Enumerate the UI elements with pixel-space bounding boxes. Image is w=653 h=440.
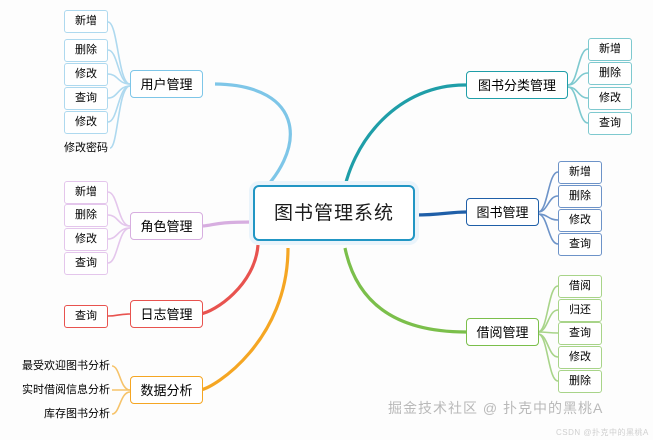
leaf-label: 查询 (75, 93, 97, 104)
leaf-label: 新增 (599, 44, 621, 55)
leaf-node[interactable]: 删除 (558, 370, 602, 393)
leaf-node[interactable]: 删除 (588, 62, 632, 85)
watermark-main: 掘金技术社区 @ 扑克中的黑桃A (388, 398, 603, 418)
leaf-label: 借阅 (569, 281, 591, 292)
leaf-node[interactable]: 修改密码 (42, 140, 110, 156)
leaf-label: 查询 (75, 311, 97, 322)
leaf-label: 库存图书分析 (44, 409, 110, 420)
leaf-node[interactable]: 新增 (64, 10, 108, 33)
watermark-corner: CSDN @扑克中的黑桃A (556, 427, 649, 438)
leaf-node[interactable]: 删除 (558, 185, 602, 208)
branch-node-book-category-management[interactable]: 图书分类管理 (466, 71, 568, 99)
mindmap-canvas: 图书管理系统 用户管理 新增 删除 修改 查询 修改 修改密码 角色管理 新增 … (0, 0, 653, 440)
leaf-label: 修改 (75, 69, 97, 80)
leaf-label: 修改 (569, 352, 591, 363)
leaf-label: 修改密码 (64, 143, 108, 154)
branch-node-book-management[interactable]: 图书管理 (466, 198, 539, 226)
leaf-node[interactable]: 归还 (558, 299, 602, 322)
leaf-label: 查询 (75, 258, 97, 269)
branch-node-data-analysis[interactable]: 数据分析 (130, 376, 203, 404)
leaf-label: 删除 (75, 45, 97, 56)
branch-label: 角色管理 (140, 220, 192, 233)
leaf-node[interactable]: 新增 (64, 181, 108, 204)
branch-label: 借阅管理 (476, 326, 528, 339)
leaf-node[interactable]: 修改 (64, 111, 108, 134)
leaf-node[interactable]: 修改 (64, 228, 108, 251)
branch-node-user-management[interactable]: 用户管理 (130, 70, 203, 98)
leaf-label: 删除 (599, 68, 621, 79)
leaf-label: 新增 (75, 187, 97, 198)
branch-label: 图书分类管理 (478, 79, 556, 92)
leaf-label: 删除 (75, 210, 97, 221)
leaf-node[interactable]: 修改 (64, 63, 108, 86)
leaf-node[interactable]: 修改 (588, 87, 632, 110)
branch-label: 图书管理 (476, 206, 528, 219)
leaf-node[interactable]: 修改 (558, 346, 602, 369)
leaf-node[interactable]: 查询 (558, 322, 602, 345)
leaf-label: 删除 (569, 376, 591, 387)
leaf-label: 查询 (599, 118, 621, 129)
leaf-label: 修改 (75, 234, 97, 245)
leaf-node[interactable]: 借阅 (558, 275, 602, 298)
root-node[interactable]: 图书管理系统 (253, 185, 415, 241)
leaf-node[interactable]: 查询 (64, 305, 108, 328)
leaf-label: 修改 (599, 93, 621, 104)
leaf-label: 归还 (569, 305, 591, 316)
leaf-node[interactable]: 库存图书分析 (28, 406, 112, 422)
leaf-node[interactable]: 查询 (588, 112, 632, 135)
leaf-label: 实时借阅信息分析 (22, 385, 110, 396)
leaf-node[interactable]: 实时借阅信息分析 (16, 382, 112, 398)
leaf-label: 新增 (75, 16, 97, 27)
branch-node-log-management[interactable]: 日志管理 (130, 300, 203, 328)
leaf-node[interactable]: 新增 (588, 38, 632, 61)
leaf-node[interactable]: 查询 (64, 252, 108, 275)
leaf-label: 修改 (75, 117, 97, 128)
leaf-node[interactable]: 查询 (64, 87, 108, 110)
branch-node-borrow-management[interactable]: 借阅管理 (466, 318, 539, 346)
branch-label: 用户管理 (140, 78, 192, 91)
leaf-node[interactable]: 修改 (558, 209, 602, 232)
branch-label: 数据分析 (140, 384, 192, 397)
leaf-label: 新增 (569, 167, 591, 178)
leaf-label: 删除 (569, 191, 591, 202)
leaf-node[interactable]: 删除 (64, 39, 108, 62)
leaf-label: 查询 (569, 328, 591, 339)
leaf-node[interactable]: 最受欢迎图书分析 (16, 358, 112, 374)
leaf-node[interactable]: 新增 (558, 161, 602, 184)
leaf-node[interactable]: 查询 (558, 233, 602, 256)
branch-node-role-management[interactable]: 角色管理 (130, 212, 203, 240)
leaf-label: 最受欢迎图书分析 (22, 361, 110, 372)
leaf-label: 修改 (569, 215, 591, 226)
root-node-label: 图书管理系统 (274, 204, 394, 223)
leaf-node[interactable]: 删除 (64, 204, 108, 227)
branch-label: 日志管理 (140, 308, 192, 321)
leaf-label: 查询 (569, 239, 591, 250)
